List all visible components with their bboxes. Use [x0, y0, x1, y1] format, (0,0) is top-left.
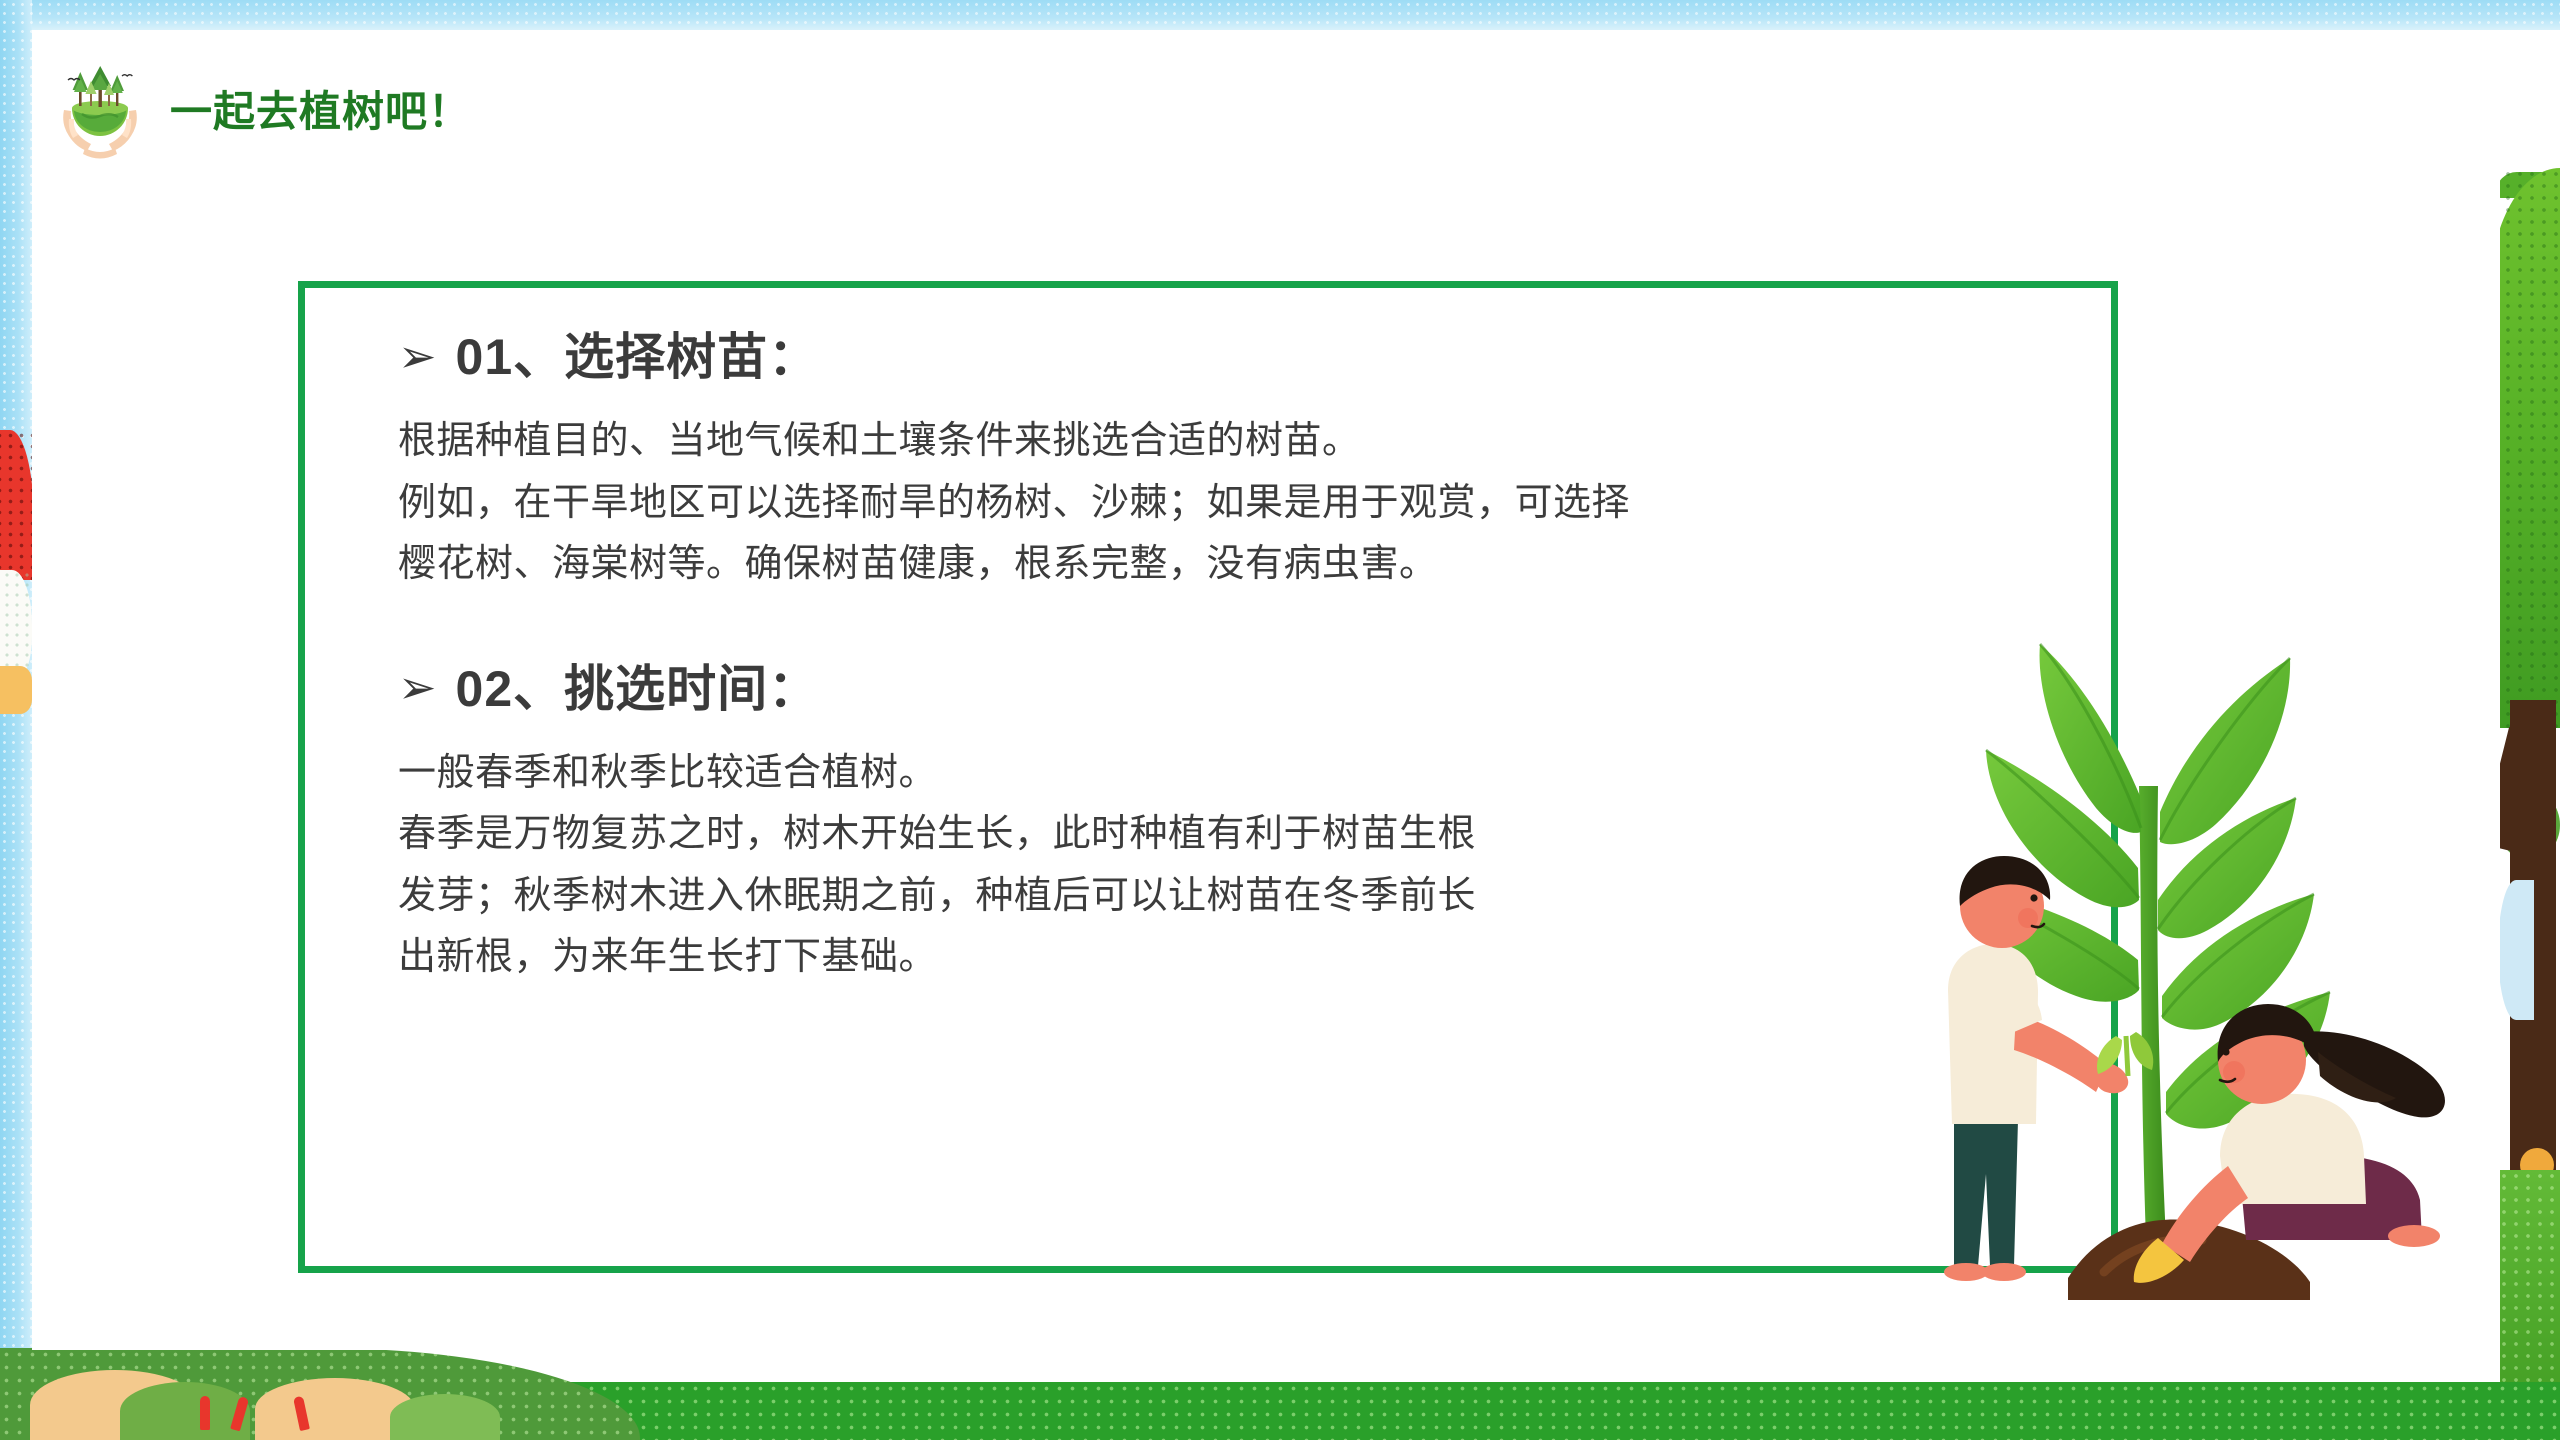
content-body: ➢ 01、选择树苗： 根据种植目的、当地气候和土壤条件来挑选合适的树苗。 例如，…: [398, 330, 2018, 997]
slide-root: 一起去植树吧！ ➢ 01、选择树苗： 根据种植目的、当地气候和土壤条件来挑选合适…: [0, 0, 2560, 1440]
arrow-bullet-icon: ➢: [398, 333, 438, 379]
flower-red-petal-shape: [0, 430, 34, 580]
section-01: ➢ 01、选择树苗： 根据种植目的、当地气候和土壤条件来挑选合适的树苗。 例如，…: [398, 330, 2018, 596]
right-decoration-strip: [2500, 0, 2560, 1440]
page-title: 一起去植树吧！: [170, 91, 471, 133]
flower-gold-petal-shape: [0, 666, 32, 714]
flower-white-petal-shape: [0, 570, 32, 680]
left-flower-decoration: [0, 430, 32, 760]
right-strip-sky-shape: [2500, 880, 2534, 1020]
section-01-body: 根据种植目的、当地气候和土壤条件来挑选合适的树苗。 例如，在干旱地区可以选择耐旱…: [398, 411, 2018, 596]
section-01-heading-text: 01、选择树苗：: [456, 330, 820, 385]
arrow-bullet-icon: ➢: [398, 664, 438, 710]
header: 一起去植树吧！: [52, 64, 471, 160]
section-02-heading: ➢ 02、挑选时间：: [398, 662, 2018, 717]
section-01-heading: ➢ 01、选择树苗：: [398, 330, 2018, 385]
bottom-green-blob: [390, 1394, 500, 1440]
section-02-body: 一般春季和秋季比较适合植树。 春季是万物复苏之时，树木开始生长，此时种植有利于树…: [398, 743, 2018, 989]
section-02: ➢ 02、挑选时间： 一般春季和秋季比较适合植树。 春季是万物复苏之时，树木开始…: [398, 662, 2018, 989]
top-decoration-band: [0, 0, 2560, 30]
section-02-heading-text: 02、挑选时间：: [456, 662, 820, 717]
bottom-red-sprig: [200, 1396, 210, 1430]
bottom-green-blob: [120, 1382, 250, 1440]
section-spacer: [398, 604, 2018, 662]
right-strip-canopy-shape: [2500, 168, 2560, 728]
hands-holding-earth-with-trees-icon: [52, 64, 148, 160]
